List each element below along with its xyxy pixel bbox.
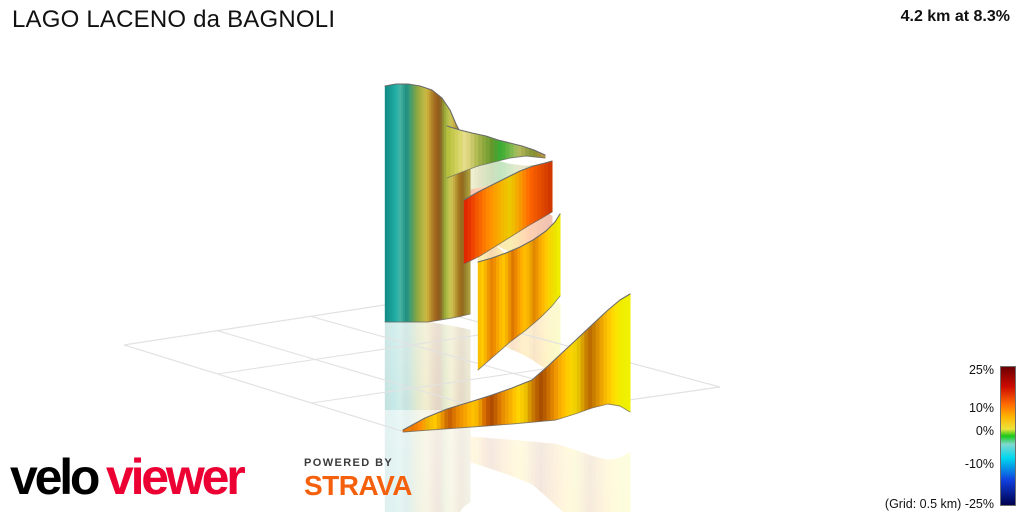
legend-tick-10: 10% xyxy=(969,402,994,415)
gradient-colorbar xyxy=(1000,366,1016,506)
logo-velo-text: velo xyxy=(10,450,99,504)
gradient-legend: 25% 10% 0% -10% (Grid: 0.5 km) -25% xyxy=(870,366,1020,512)
logo-viewer-text: viewer xyxy=(106,450,245,504)
grid-note-label: (Grid: 0.5 km) xyxy=(885,497,961,511)
legend-tick-0: 0% xyxy=(976,425,994,438)
legend-tick-neg25: -25% xyxy=(965,497,994,511)
gradient-colorbar-fill xyxy=(1001,367,1015,505)
segment-5-summit-wall[interactable] xyxy=(385,84,470,322)
veloviewer-branding[interactable]: velo viewer POWERED BY STRAVA xyxy=(10,444,432,504)
powered-by-label: POWERED BY xyxy=(304,457,393,469)
legend-tick-neg10: -10% xyxy=(965,458,994,471)
strava-text: STRAVA xyxy=(304,470,412,500)
legend-tick-25: 25% xyxy=(969,364,994,377)
strava-wordmark[interactable]: STRAVA xyxy=(304,470,432,500)
powered-by-strava[interactable]: POWERED BY STRAVA xyxy=(304,457,432,504)
veloviewer-climb-render: LAGO LACENO da BAGNOLI 4.2 km at 8.3% 25… xyxy=(0,0,1024,512)
legend-grid-note: (Grid: 0.5 km) -25% xyxy=(885,497,994,511)
veloviewer-logo[interactable]: velo viewer xyxy=(10,450,288,504)
